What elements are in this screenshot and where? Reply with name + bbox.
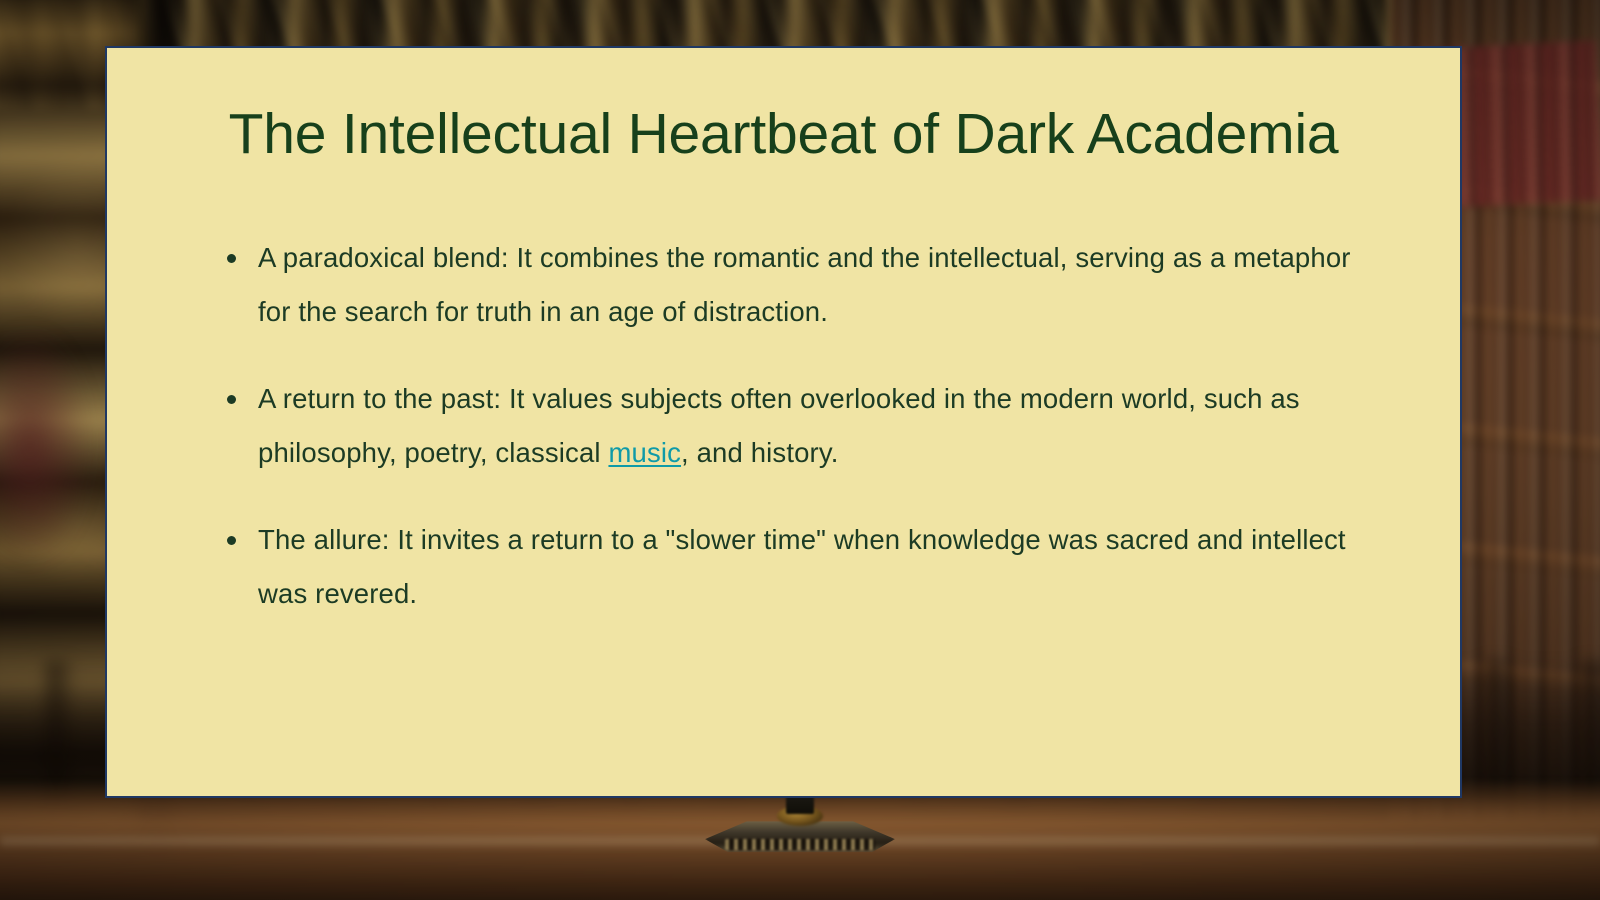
bullet-dot-icon — [227, 254, 236, 263]
content-panel: The Intellectual Heartbeat of Dark Acade… — [105, 46, 1462, 798]
music-hyperlink[interactable]: music — [608, 437, 681, 468]
bullet-text-tail: , and history. — [681, 437, 839, 468]
bullet-item-the-allure: The allure: It invites a return to a "sl… — [225, 513, 1364, 622]
bullet-text: The allure: It invites a return to a "sl… — [258, 524, 1346, 609]
bullet-item-return-to-past: A return to the past: It values subjects… — [225, 372, 1364, 481]
bullet-dot-icon — [227, 395, 236, 404]
bullet-item-paradoxical-blend: A paradoxical blend: It combines the rom… — [225, 231, 1364, 340]
lamp-base-ornament — [725, 839, 875, 850]
bullet-dot-icon — [227, 536, 236, 545]
slide-title: The Intellectual Heartbeat of Dark Acade… — [107, 105, 1460, 165]
presentation-slide: The Intellectual Heartbeat of Dark Acade… — [0, 0, 1600, 900]
bullet-list: A paradoxical blend: It combines the rom… — [107, 231, 1460, 622]
bullet-text: A paradoxical blend: It combines the rom… — [258, 242, 1351, 327]
maroon-drape-left — [0, 330, 90, 560]
